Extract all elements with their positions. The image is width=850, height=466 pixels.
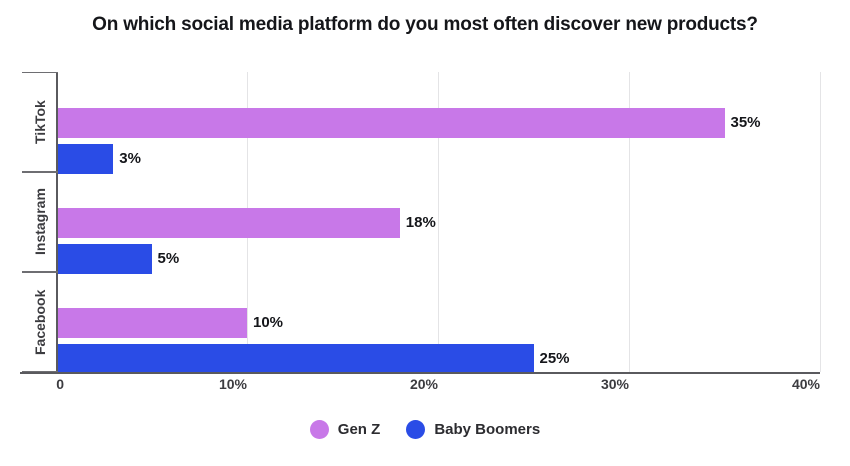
chart-legend: Gen ZBaby Boomers — [0, 420, 850, 439]
bar-value-label: 10% — [253, 308, 283, 338]
category-group-facebook: Facebook — [22, 272, 58, 372]
legend-label: Gen Z — [338, 421, 381, 438]
x-tick-label-20pct: 20% — [410, 376, 438, 392]
x-tick-label-30pct: 30% — [601, 376, 629, 392]
legend-label: Baby Boomers — [434, 421, 540, 438]
category-label-facebook: Facebook — [22, 272, 58, 372]
bar-value-label: 18% — [406, 208, 436, 238]
legend-item-gen-z[interactable]: Gen Z — [310, 420, 381, 439]
category-group-tiktok: TikTok — [22, 72, 58, 172]
bar-instagram-gen-z — [56, 208, 400, 238]
x-tick-label-0: 0 — [56, 376, 64, 392]
gridline-40 — [820, 72, 821, 372]
bar-value-label: 25% — [540, 344, 570, 374]
category-group-instagram: Instagram — [22, 172, 58, 272]
bar-instagram-baby-boomers — [56, 244, 152, 274]
plot-area: 35%3%18%5%10%25% — [56, 72, 820, 372]
category-label-instagram: Instagram — [22, 172, 58, 272]
chart-container: On which social media platform do you mo… — [0, 0, 850, 466]
bar-facebook-gen-z — [56, 308, 247, 338]
x-tick-label-40pct: 40% — [792, 376, 820, 392]
x-axis-line — [20, 372, 820, 374]
category-label-tiktok: TikTok — [22, 72, 58, 172]
bar-facebook-baby-boomers — [56, 344, 534, 374]
legend-swatch-icon — [310, 420, 329, 439]
chart-title: On which social media platform do you mo… — [0, 14, 850, 36]
bar-tiktok-gen-z — [56, 108, 725, 138]
x-tick-label-10pct: 10% — [219, 376, 247, 392]
bar-value-label: 3% — [119, 144, 141, 174]
bar-value-label: 35% — [731, 108, 761, 138]
bar-tiktok-baby-boomers — [56, 144, 113, 174]
legend-swatch-icon — [406, 420, 425, 439]
legend-item-baby-boomers[interactable]: Baby Boomers — [406, 420, 540, 439]
bar-value-label: 5% — [158, 244, 180, 274]
